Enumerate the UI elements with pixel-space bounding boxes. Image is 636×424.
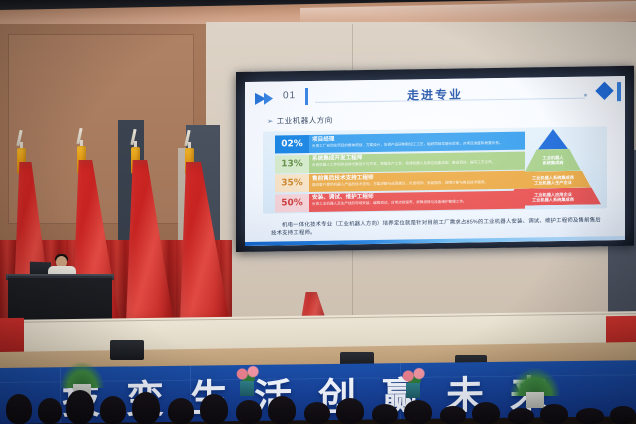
auditorium-photo: 01 走进专业 ➢工业机器人方向 02% 项目经理 负责工厂自动化项目 xyxy=(0,0,636,424)
audience-head xyxy=(304,402,330,424)
audience-head xyxy=(66,390,94,424)
row-body: 安装、调试、维护工程师 负责工业机器人及生产线的现场安装、编程调试、日常点检保养… xyxy=(309,190,525,211)
plant-pot xyxy=(240,381,254,396)
audience-head xyxy=(472,402,500,424)
slide-title: 走进专业 xyxy=(245,83,625,106)
audience-head xyxy=(508,408,534,424)
row-body: 系统集成开发工程师 负责机器人工作站的总体方案设计与开发，根据生产工艺，完成机器… xyxy=(309,151,525,172)
bullet-arrow-icon: ➢ xyxy=(267,117,274,126)
pyramid-tier-4: 工业机器人应用企业 工业机器人系统集成商 xyxy=(505,187,601,206)
row-body: 项目经理 负责工厂自动化项目的整体规划、方案设计，协调产品研制和加工工艺，组织项… xyxy=(309,132,525,153)
audience-head xyxy=(168,398,194,424)
chart-row: 13% 系统集成开发工程师 负责机器人工作站的总体方案设计与开发，根据生产工艺，… xyxy=(275,151,525,173)
audience-head xyxy=(100,396,126,424)
audience-head xyxy=(268,396,296,424)
pyramid-tier-2: 工业机器人 系统集成商 xyxy=(525,149,581,172)
pyramid-graphic: 工业机器人 系统集成商 工业机器人系统集成商 工业机器人生产企业 工业机器人应用… xyxy=(505,128,601,206)
pyramid-tier-top xyxy=(538,129,568,149)
audience-head xyxy=(236,400,262,424)
audience-head xyxy=(336,398,364,424)
slide-bullet: ➢工业机器人方向 xyxy=(267,115,333,127)
row-percent: 02% xyxy=(275,135,309,154)
audience-head xyxy=(372,404,398,424)
audience-head xyxy=(6,394,32,424)
career-pyramid-chart: 02% 项目经理 负责工厂自动化项目的整体规划、方案设计，协调产品研制和加工工艺… xyxy=(263,126,607,213)
slide-header: 01 走进专业 xyxy=(245,82,625,110)
bullet-label: 工业机器人方向 xyxy=(277,116,333,126)
audience-head xyxy=(404,400,432,424)
row-percent: 13% xyxy=(275,154,309,173)
plant-pot xyxy=(526,392,544,408)
chart-row: 50% 安装、调试、维护工程师 负责工业机器人及生产线的现场安装、编程调试、日常… xyxy=(275,190,525,212)
row-percent: 35% xyxy=(275,174,309,193)
row-percent: 50% xyxy=(275,193,309,212)
pyramid-tier-3: 工业机器人系统集成商 工业机器人生产企业 xyxy=(515,171,591,189)
presentation-screen[interactable]: 01 走进专业 ➢工业机器人方向 02% 项目经理 负责工厂自动化项目 xyxy=(245,76,625,246)
chart-rows: 02% 项目经理 负责工厂自动化项目的整体规划、方案设计，协调产品研制和加工工艺… xyxy=(275,132,525,214)
loudspeaker-left xyxy=(110,340,144,360)
row-body: 售前售后技术支持工程师 面向客户提供机器人产品的技术咨询、方案讲解与选型建议，负… xyxy=(309,171,525,192)
header-right-bar xyxy=(617,82,621,101)
chart-row: 02% 项目经理 负责工厂自动化项目的整体规划、方案设计，协调产品研制和加工工艺… xyxy=(275,132,525,154)
audience-head xyxy=(132,392,160,424)
audience-head xyxy=(610,406,636,424)
audience-head xyxy=(200,394,228,424)
audience-head xyxy=(540,404,568,424)
slide-caption: 机电一体化技术专业（工业机器人方向）培养定位就是针对目前工厂需求占85%的工业机… xyxy=(271,216,603,237)
audience-head xyxy=(576,408,604,424)
slide: 01 走进专业 ➢工业机器人方向 02% 项目经理 负责工厂自动化项目 xyxy=(245,76,625,246)
plant-pot xyxy=(406,383,420,398)
audience-head xyxy=(440,406,466,424)
header-dot-icon xyxy=(584,94,587,97)
audience-head xyxy=(38,398,62,424)
chart-row: 35% 售前售后技术支持工程师 面向客户提供机器人产品的技术咨询、方案讲解与选型… xyxy=(275,171,525,193)
